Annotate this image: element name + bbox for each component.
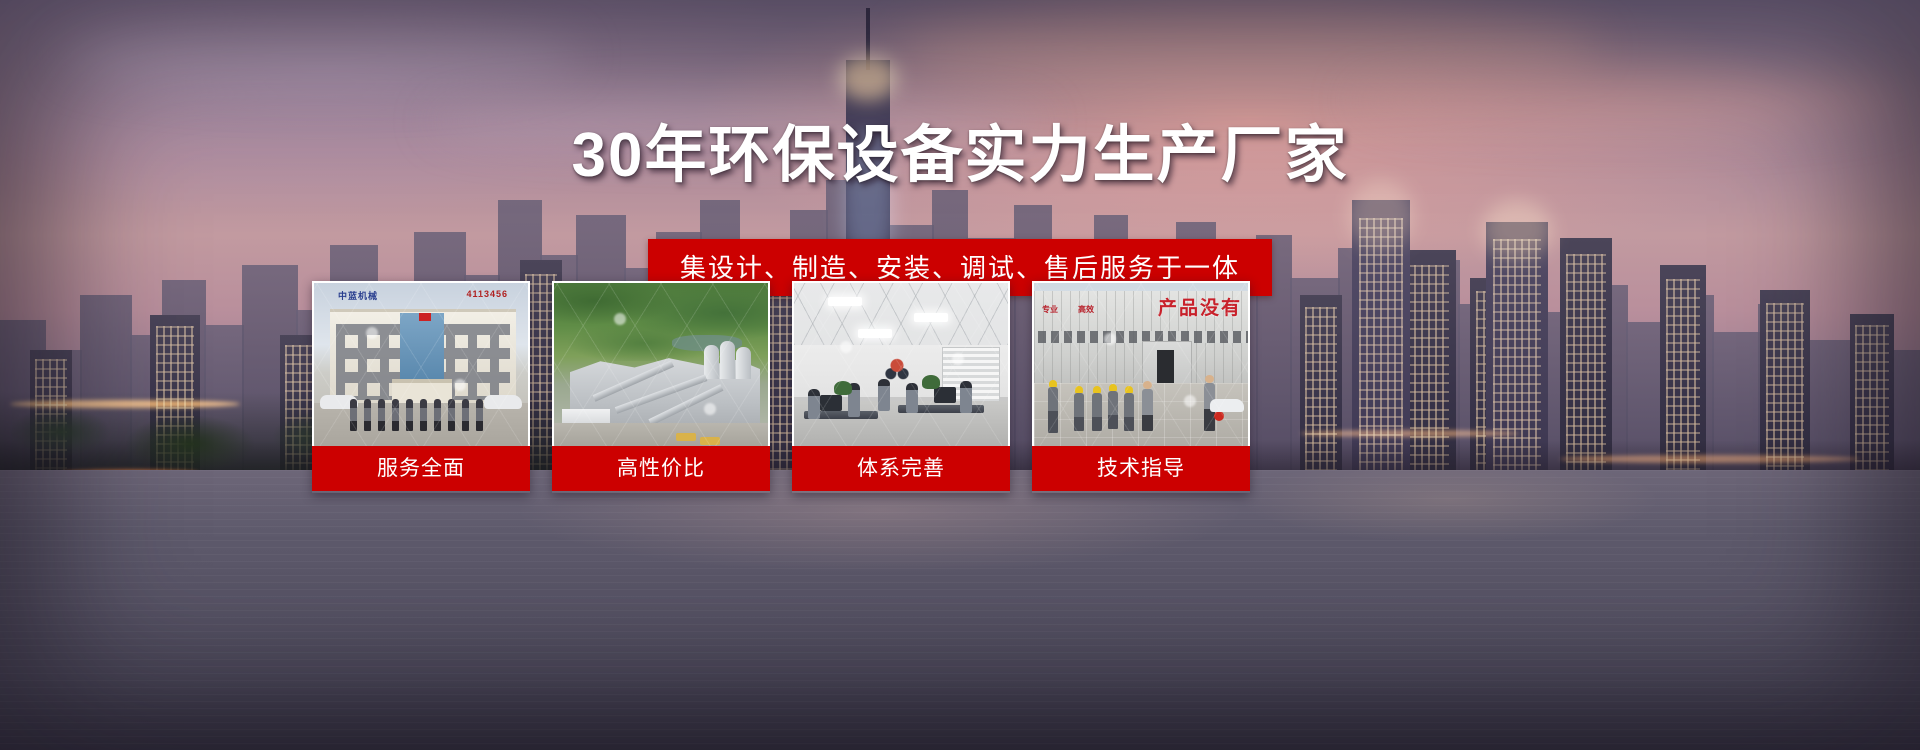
card-caption: 服务全面: [312, 446, 530, 491]
card-thumbnail-factory-workers: 产品没有 专业 高效: [1032, 281, 1250, 446]
feature-card[interactable]: 中蓝机械 4113456: [312, 281, 530, 493]
card-caption: 技术指导: [1032, 446, 1250, 491]
factory-slogan-2: 高效: [1078, 305, 1094, 314]
feature-card[interactable]: 高性价比: [552, 281, 770, 493]
factory-slogan-1: 专业: [1042, 305, 1058, 314]
building-sign-text: 中蓝机械 4113456: [338, 289, 508, 303]
feature-card[interactable]: 体系完善: [792, 281, 1010, 493]
factory-sign-text: 产品没有: [1158, 293, 1242, 320]
card-thumbnail-headquarters: 中蓝机械 4113456: [312, 281, 530, 446]
card-thumbnail-office-team: [792, 281, 1010, 446]
hero-banner: 30年环保设备实力生产厂家 集设计、制造、安装、调试、售后服务于一体 中蓝机械 …: [0, 0, 1920, 750]
card-thumbnail-aerial-plant: [552, 281, 770, 446]
card-caption: 体系完善: [792, 446, 1010, 491]
red-helmet-icon: [1214, 411, 1224, 421]
building-phone-text: 4113456: [466, 289, 508, 299]
feature-card[interactable]: 产品没有 专业 高效: [1032, 281, 1250, 493]
card-caption: 高性价比: [552, 446, 770, 491]
banner-headline: 30年环保设备实力生产厂家: [0, 104, 1920, 194]
feature-card-list: 中蓝机械 4113456: [312, 281, 1256, 493]
